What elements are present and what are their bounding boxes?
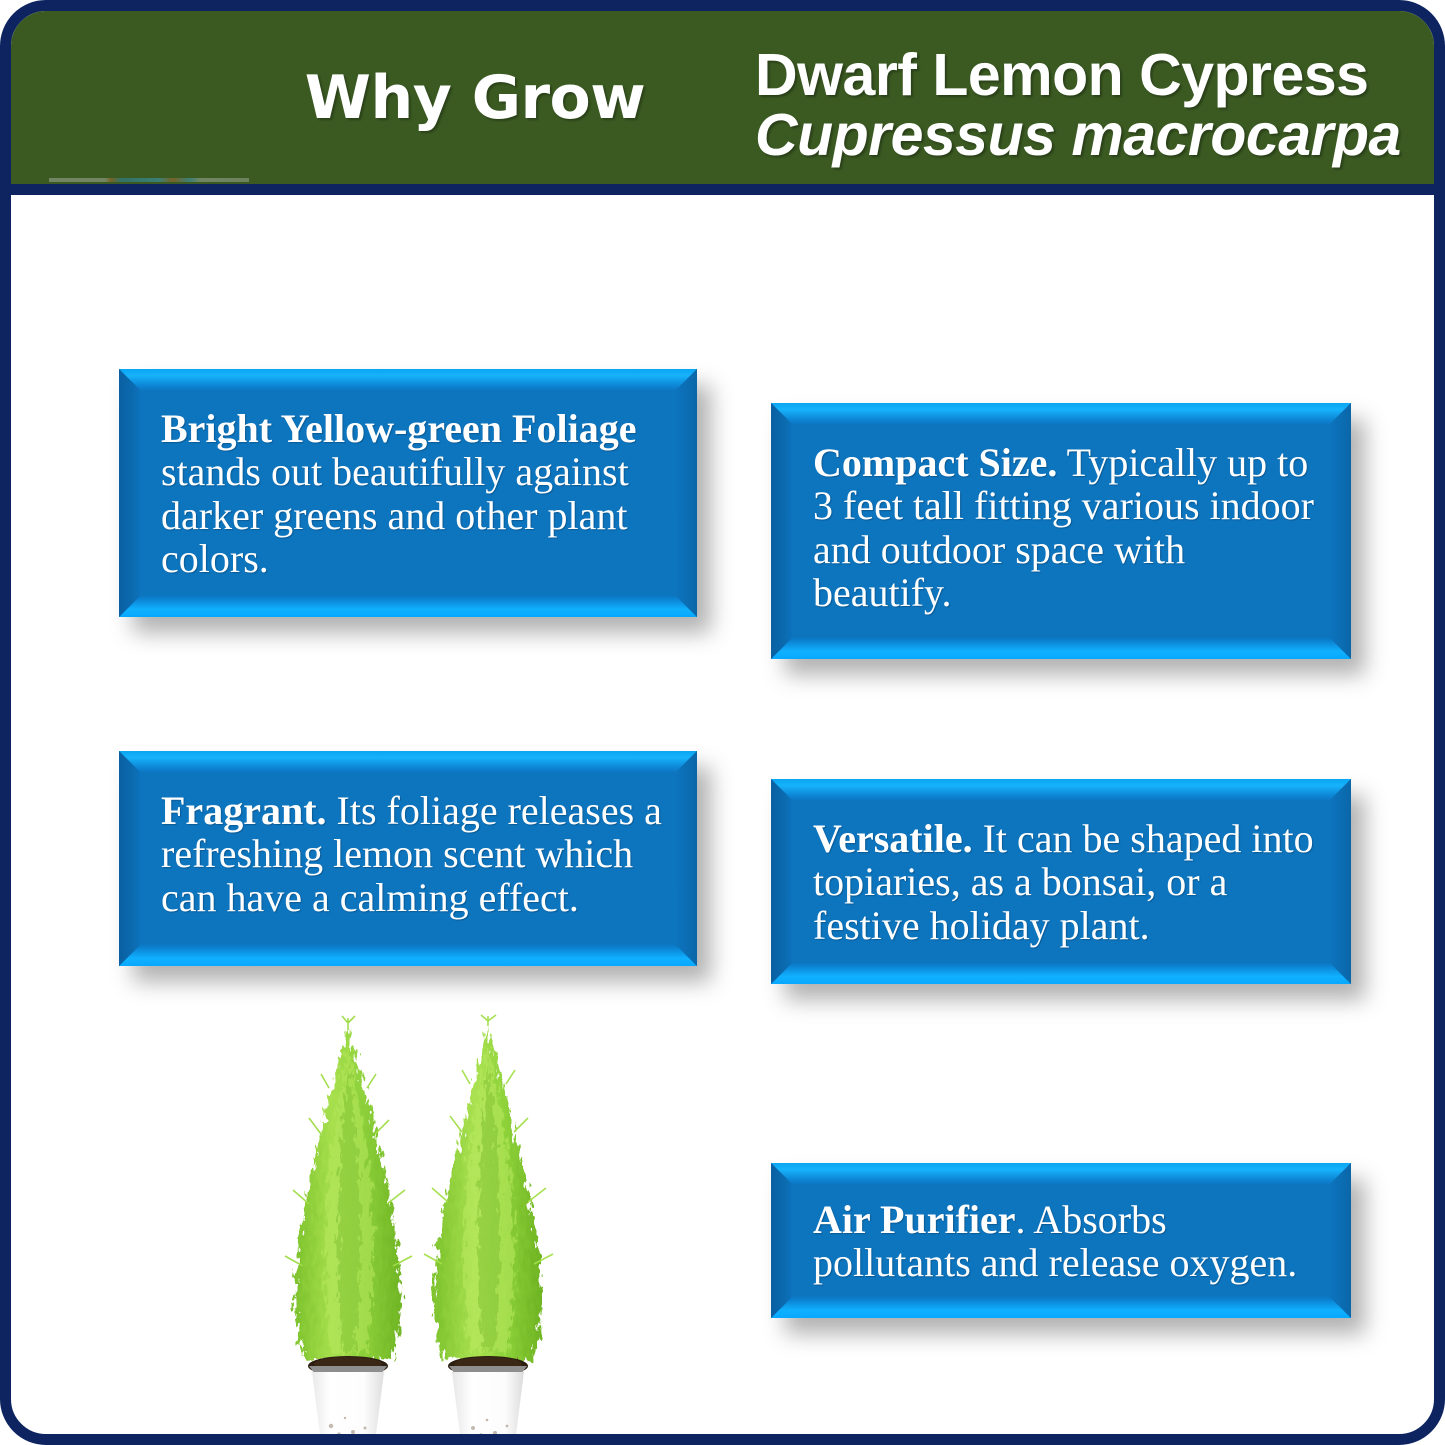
bevel-top-edge xyxy=(771,779,1351,801)
bevel-bottom-edge xyxy=(119,595,697,617)
bevel-bottom-edge xyxy=(771,962,1351,984)
benefit-card-text: Fragrant. Its foliage releases a refresh… xyxy=(161,789,663,919)
bevel-right-edge xyxy=(675,751,697,966)
bevel-right-edge xyxy=(675,369,697,617)
bevel-bottom-edge xyxy=(119,944,697,966)
bevel-right-edge xyxy=(1329,403,1351,659)
bevel-left-edge xyxy=(771,403,793,659)
bevel-bottom-edge xyxy=(771,1296,1351,1318)
plant-common-name: Dwarf Lemon Cypress xyxy=(755,45,1415,105)
bevel-top-edge xyxy=(771,403,1351,425)
bevel-right-edge xyxy=(1329,1163,1351,1318)
potted-plant-left xyxy=(279,1014,417,1444)
page-title-why-grow: Why Grow xyxy=(295,68,655,128)
benefit-card-versatile[interactable]: Versatile. It can be shaped into topiari… xyxy=(771,779,1351,984)
benefit-card-text: Bright Yellow-green Foliage stands out b… xyxy=(161,407,663,581)
header-scan-artifact xyxy=(49,178,249,182)
bevel-top-edge xyxy=(771,1163,1351,1185)
benefit-heading: Versatile. xyxy=(813,816,973,861)
benefit-heading: Compact Size. xyxy=(813,440,1057,485)
benefit-card-text: Compact Size. Typically up to 3 feet tal… xyxy=(813,441,1317,615)
benefit-card-text: Versatile. It can be shaped into topiari… xyxy=(813,817,1317,947)
benefit-heading: Bright Yellow-green Foliage xyxy=(161,406,636,451)
bevel-top-edge xyxy=(119,751,697,773)
bevel-bottom-edge xyxy=(771,637,1351,659)
header-band: Why Grow Dwarf Lemon Cypress Cupressus m… xyxy=(11,11,1434,195)
benefit-card-fragrant[interactable]: Fragrant. Its foliage releases a refresh… xyxy=(119,751,697,966)
bevel-left-edge xyxy=(771,1163,793,1318)
bevel-left-edge xyxy=(119,751,141,966)
infographic-poster: Why Grow Dwarf Lemon Cypress Cupressus m… xyxy=(0,0,1445,1445)
benefit-heading: Air Purifier xyxy=(813,1197,1016,1242)
potted-plant-right xyxy=(419,1014,557,1444)
plant-botanical-name: Cupressus macrocarpa xyxy=(755,105,1415,165)
benefit-card-foliage[interactable]: Bright Yellow-green Foliage stands out b… xyxy=(119,369,697,617)
benefit-card-text: Air Purifier. Absorbs pollutants and rel… xyxy=(813,1198,1317,1285)
bevel-right-edge xyxy=(1329,779,1351,984)
benefit-body: stands out beautifully against darker gr… xyxy=(161,449,629,581)
bevel-top-edge xyxy=(119,369,697,391)
bevel-left-edge xyxy=(119,369,141,617)
benefit-heading: Fragrant. xyxy=(161,788,327,833)
benefit-card-size[interactable]: Compact Size. Typically up to 3 feet tal… xyxy=(771,403,1351,659)
plant-name-block: Dwarf Lemon Cypress Cupressus macrocarpa xyxy=(755,45,1415,165)
bevel-left-edge xyxy=(771,779,793,984)
lemon-cypress-photo xyxy=(275,1004,565,1444)
benefit-card-air-purifier[interactable]: Air Purifier. Absorbs pollutants and rel… xyxy=(771,1163,1351,1318)
